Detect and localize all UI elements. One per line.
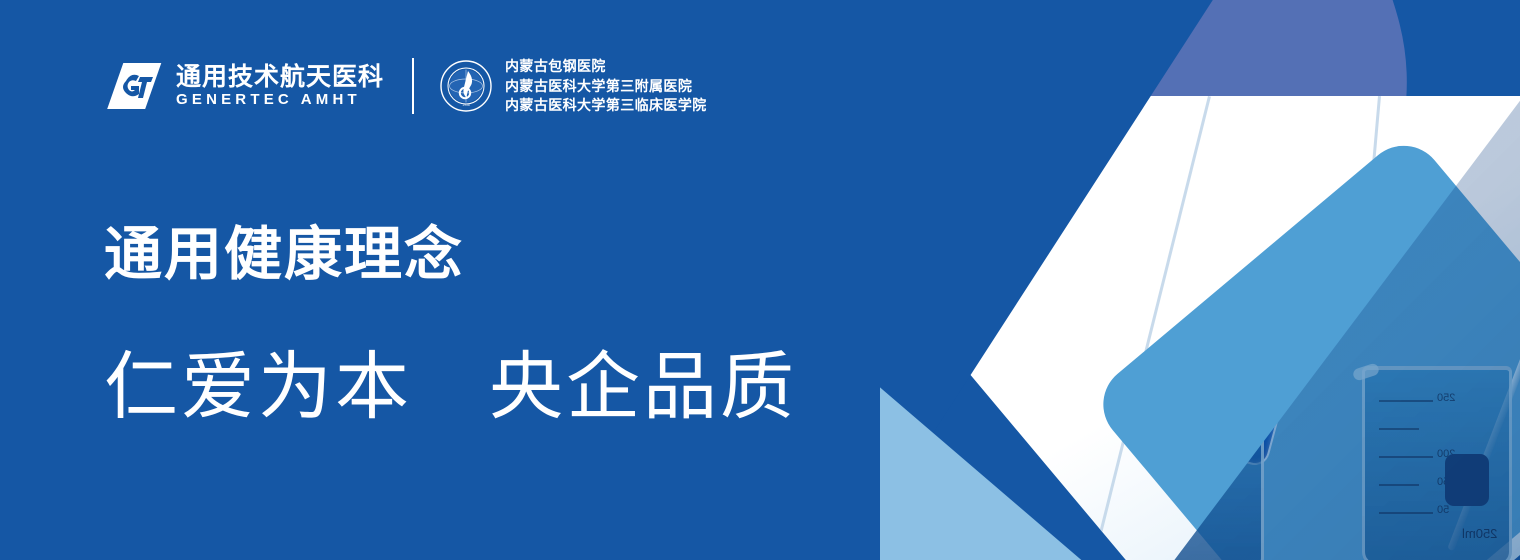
genertec-name-en: GENERTEC AMHT (176, 92, 384, 108)
hospital-name-line-1: 内蒙古包钢医院 (505, 58, 707, 75)
hospital-name-line-2: 内蒙古医科大学第三附属医院 (505, 78, 707, 95)
banner-header: 通用技术航天医科 GENERTEC AMHT 1958 (104, 58, 707, 114)
baogang-hospital-emblem-icon: 1958 (440, 60, 492, 112)
genertec-gt-diamond-icon (104, 59, 162, 113)
genertec-logo-group[interactable]: 通用技术航天医科 GENERTEC AMHT (104, 59, 384, 113)
genertec-wordmark: 通用技术航天医科 GENERTEC AMHT (176, 64, 384, 108)
headline-block: 通用健康理念 仁爱为本 央企品质 (104, 226, 797, 424)
hospital-name-lines: 内蒙古包钢医院 内蒙古医科大学第三附属医院 内蒙古医科大学第三临床医学院 (505, 58, 707, 114)
headline-line-2: 仁爱为本 央企品质 (104, 350, 797, 424)
headline-line-1: 通用健康理念 (104, 226, 797, 284)
hospital-hero-banner: 250 200 150 50 250ml (0, 0, 1520, 560)
hospital-name-line-3: 内蒙古医科大学第三临床医学院 (505, 97, 707, 114)
svg-text:1958: 1958 (462, 103, 470, 107)
genertec-name-cn: 通用技术航天医科 (176, 64, 384, 90)
hospital-logo-group[interactable]: 1958 内蒙古包钢医院 内蒙古医科大学第三附属医院 内蒙古医科大学第三临床医学… (440, 58, 707, 114)
header-divider (412, 58, 414, 114)
lab-artwork: 250 200 150 50 250ml (880, 0, 1520, 560)
